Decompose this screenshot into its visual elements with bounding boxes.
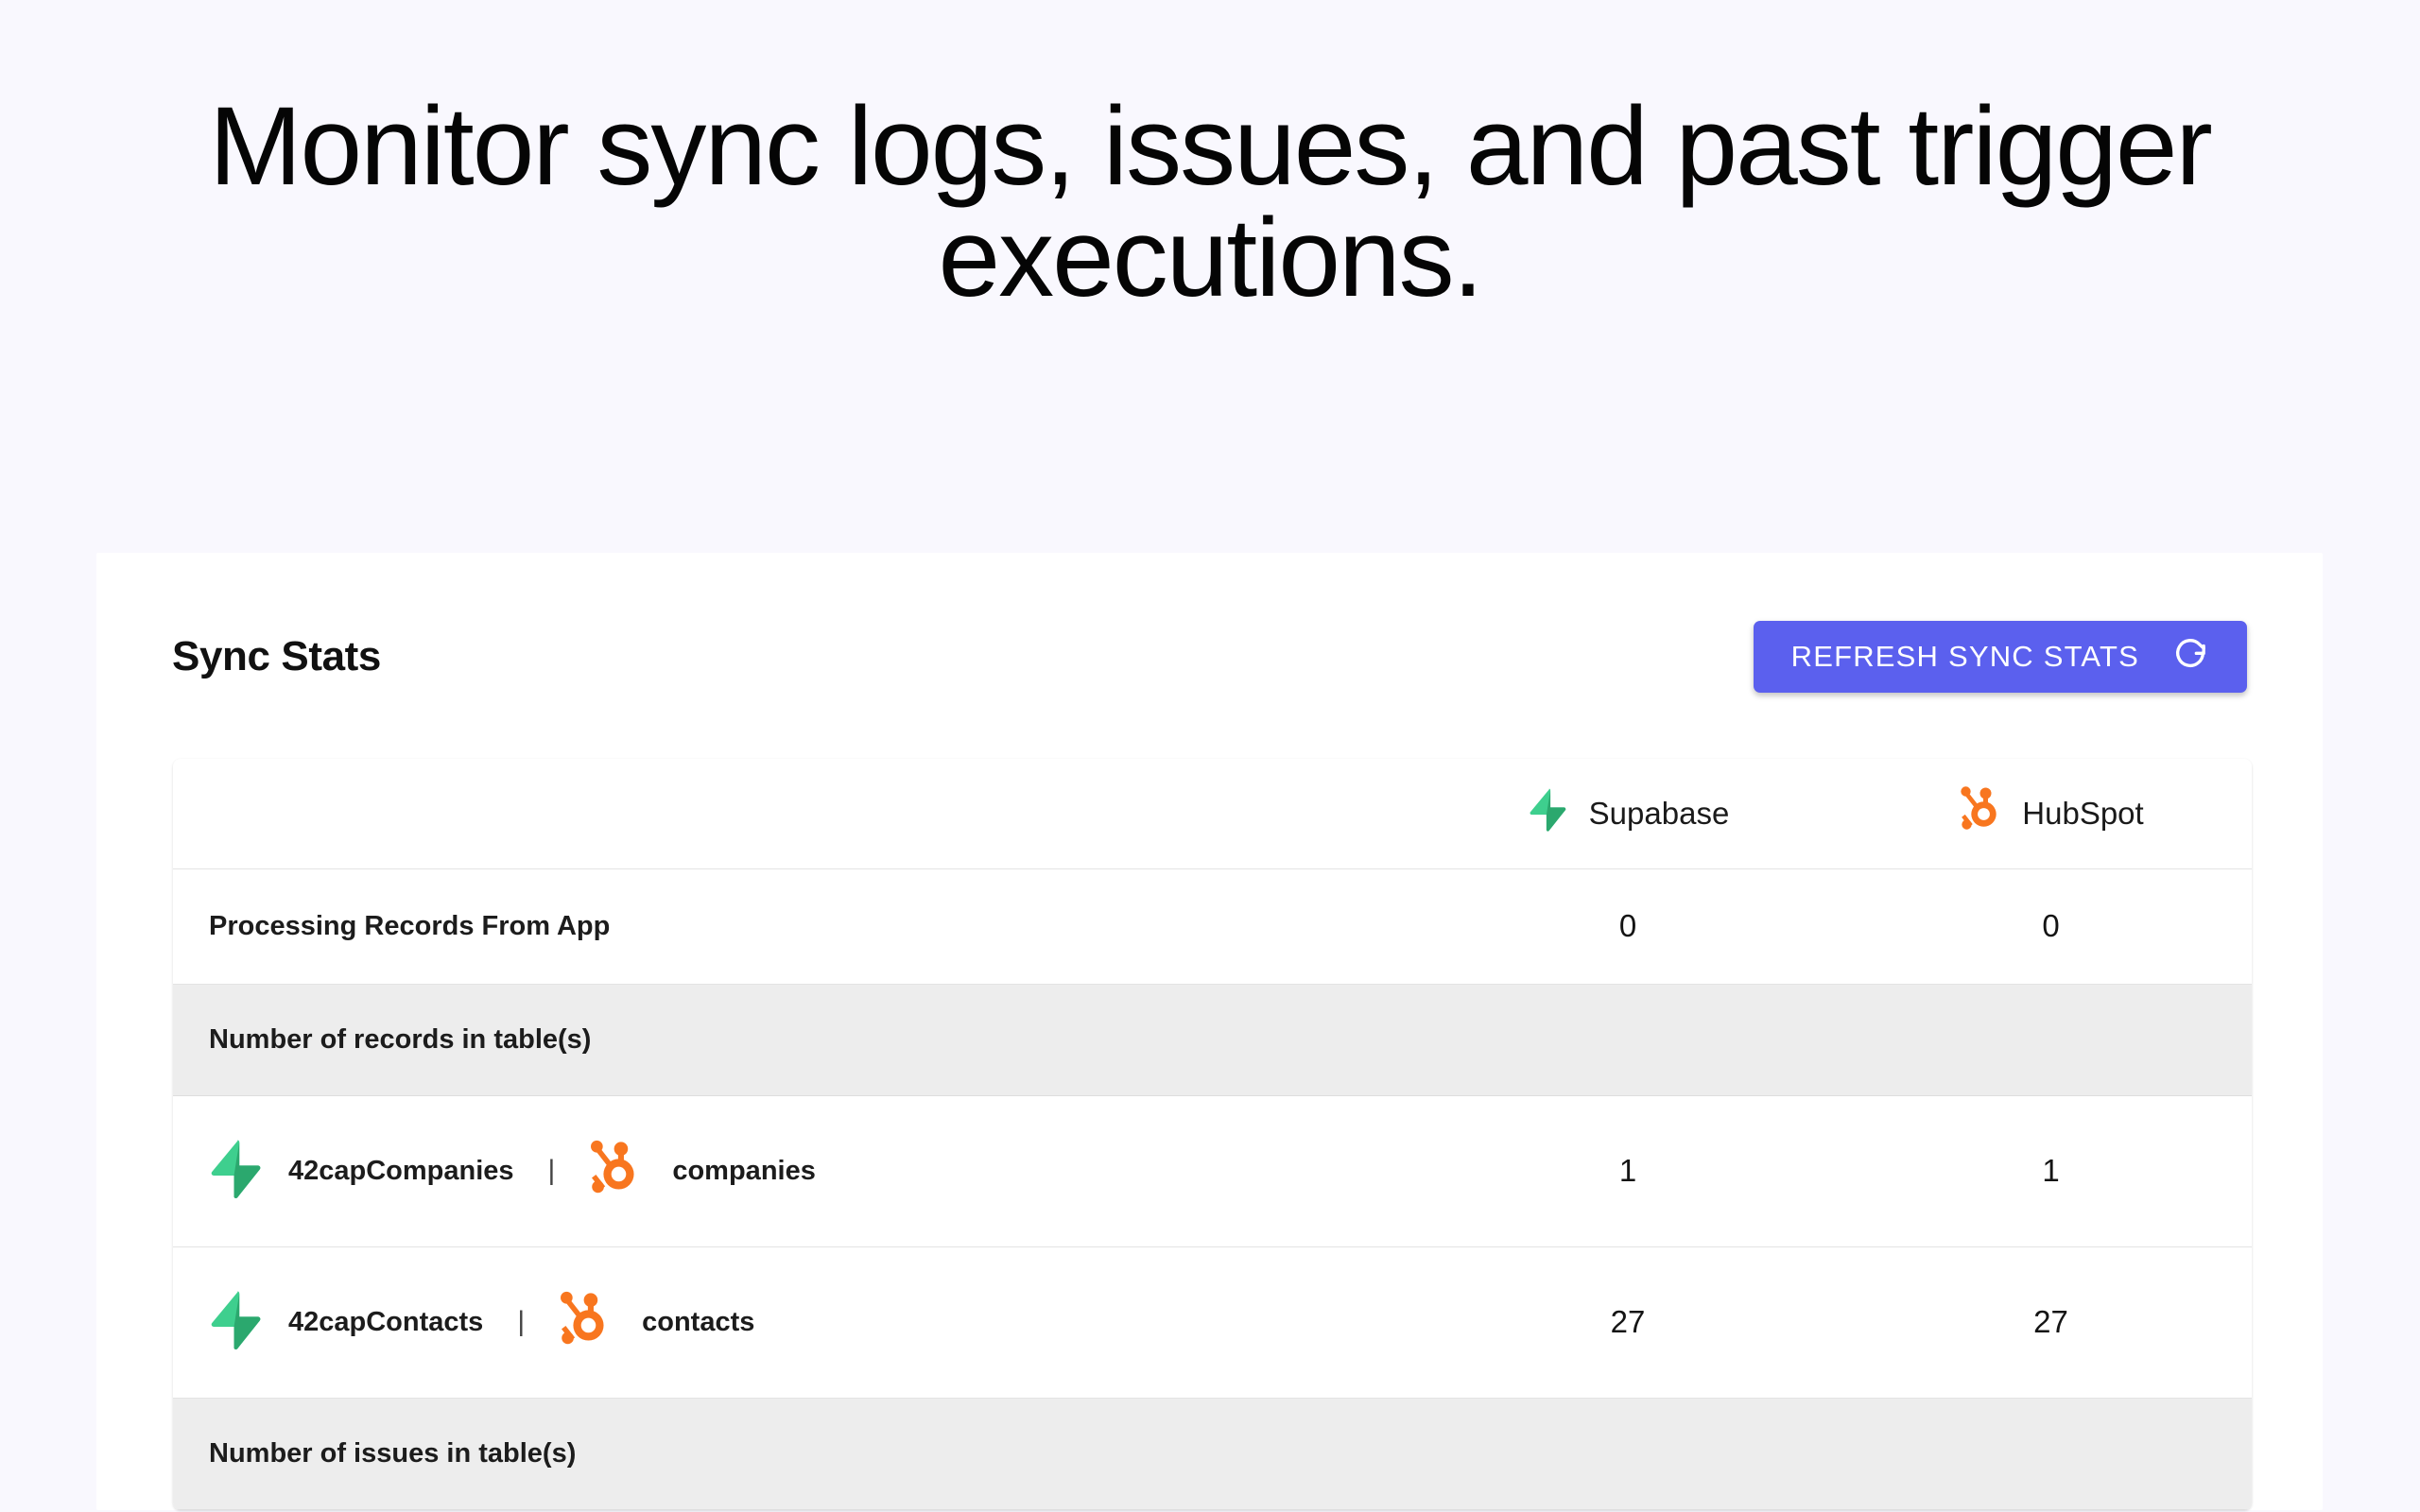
mapping-target-name: contacts bbox=[642, 1307, 754, 1338]
mapping-source-name: 42capCompanies bbox=[288, 1156, 514, 1187]
hubspot-logo-icon bbox=[1958, 786, 2001, 841]
hero-section: Monitor sync logs, issues, and past trig… bbox=[0, 0, 2420, 314]
table-section-row: Number of records in table(s) bbox=[173, 984, 2252, 1095]
mapping-cell: 42capContacts | bbox=[173, 1246, 1406, 1398]
mapping-cell: 42capCompanies | bbox=[173, 1095, 1406, 1246]
row-value-supabase: 27 bbox=[1406, 1246, 1850, 1398]
page-title: Monitor sync logs, issues, and past trig… bbox=[170, 91, 2250, 314]
sync-stats-table-wrapper: Supabase bbox=[173, 759, 2252, 1510]
mapping-separator: | bbox=[548, 1155, 556, 1187]
row-label: Processing Records From App bbox=[173, 868, 1406, 984]
mapping-separator: | bbox=[517, 1306, 525, 1338]
hubspot-logo-icon bbox=[587, 1140, 640, 1203]
card-title: Sync Stats bbox=[172, 633, 381, 680]
supabase-logo-icon bbox=[207, 1290, 264, 1355]
sync-stats-card: Sync Stats REFRESH SYNC STATS bbox=[96, 553, 2323, 1510]
header-label-hubspot: HubSpot bbox=[2022, 796, 2143, 832]
header-cell-hubspot: HubSpot bbox=[1850, 759, 2252, 868]
card-header: Sync Stats REFRESH SYNC STATS bbox=[96, 553, 2323, 704]
refresh-sync-stats-button[interactable]: REFRESH SYNC STATS bbox=[1754, 621, 2247, 693]
refresh-button-label: REFRESH SYNC STATS bbox=[1791, 640, 2139, 674]
row-value-supabase: 1 bbox=[1406, 1095, 1850, 1246]
sync-stats-table: Supabase bbox=[173, 759, 2252, 1510]
table-header-row: Supabase bbox=[173, 759, 2252, 868]
table-row: Processing Records From App 0 0 bbox=[173, 868, 2252, 984]
supabase-logo-icon bbox=[1527, 788, 1568, 839]
mapping-target-name: companies bbox=[672, 1156, 816, 1187]
section-header-cell: Number of records in table(s) bbox=[173, 984, 2252, 1095]
section-label: Number of issues in table(s) bbox=[173, 1438, 2252, 1469]
hubspot-logo-icon bbox=[557, 1291, 610, 1354]
row-value-hubspot: 1 bbox=[1850, 1095, 2252, 1246]
section-label: Number of records in table(s) bbox=[173, 1024, 2252, 1056]
refresh-icon bbox=[2171, 634, 2209, 679]
header-cell-blank bbox=[173, 759, 1406, 868]
mapping-source-name: 42capContacts bbox=[288, 1307, 483, 1338]
row-value-hubspot: 27 bbox=[1850, 1246, 2252, 1398]
table-row: 42capContacts | bbox=[173, 1246, 2252, 1398]
row-value-hubspot: 0 bbox=[1850, 868, 2252, 984]
table-section-row: Number of issues in table(s) bbox=[173, 1398, 2252, 1509]
header-label-supabase: Supabase bbox=[1589, 796, 1730, 832]
header-cell-supabase: Supabase bbox=[1406, 759, 1850, 868]
table-row: 42capCompanies | bbox=[173, 1095, 2252, 1246]
row-value-supabase: 0 bbox=[1406, 868, 1850, 984]
section-header-cell: Number of issues in table(s) bbox=[173, 1398, 2252, 1509]
supabase-logo-icon bbox=[207, 1139, 264, 1204]
